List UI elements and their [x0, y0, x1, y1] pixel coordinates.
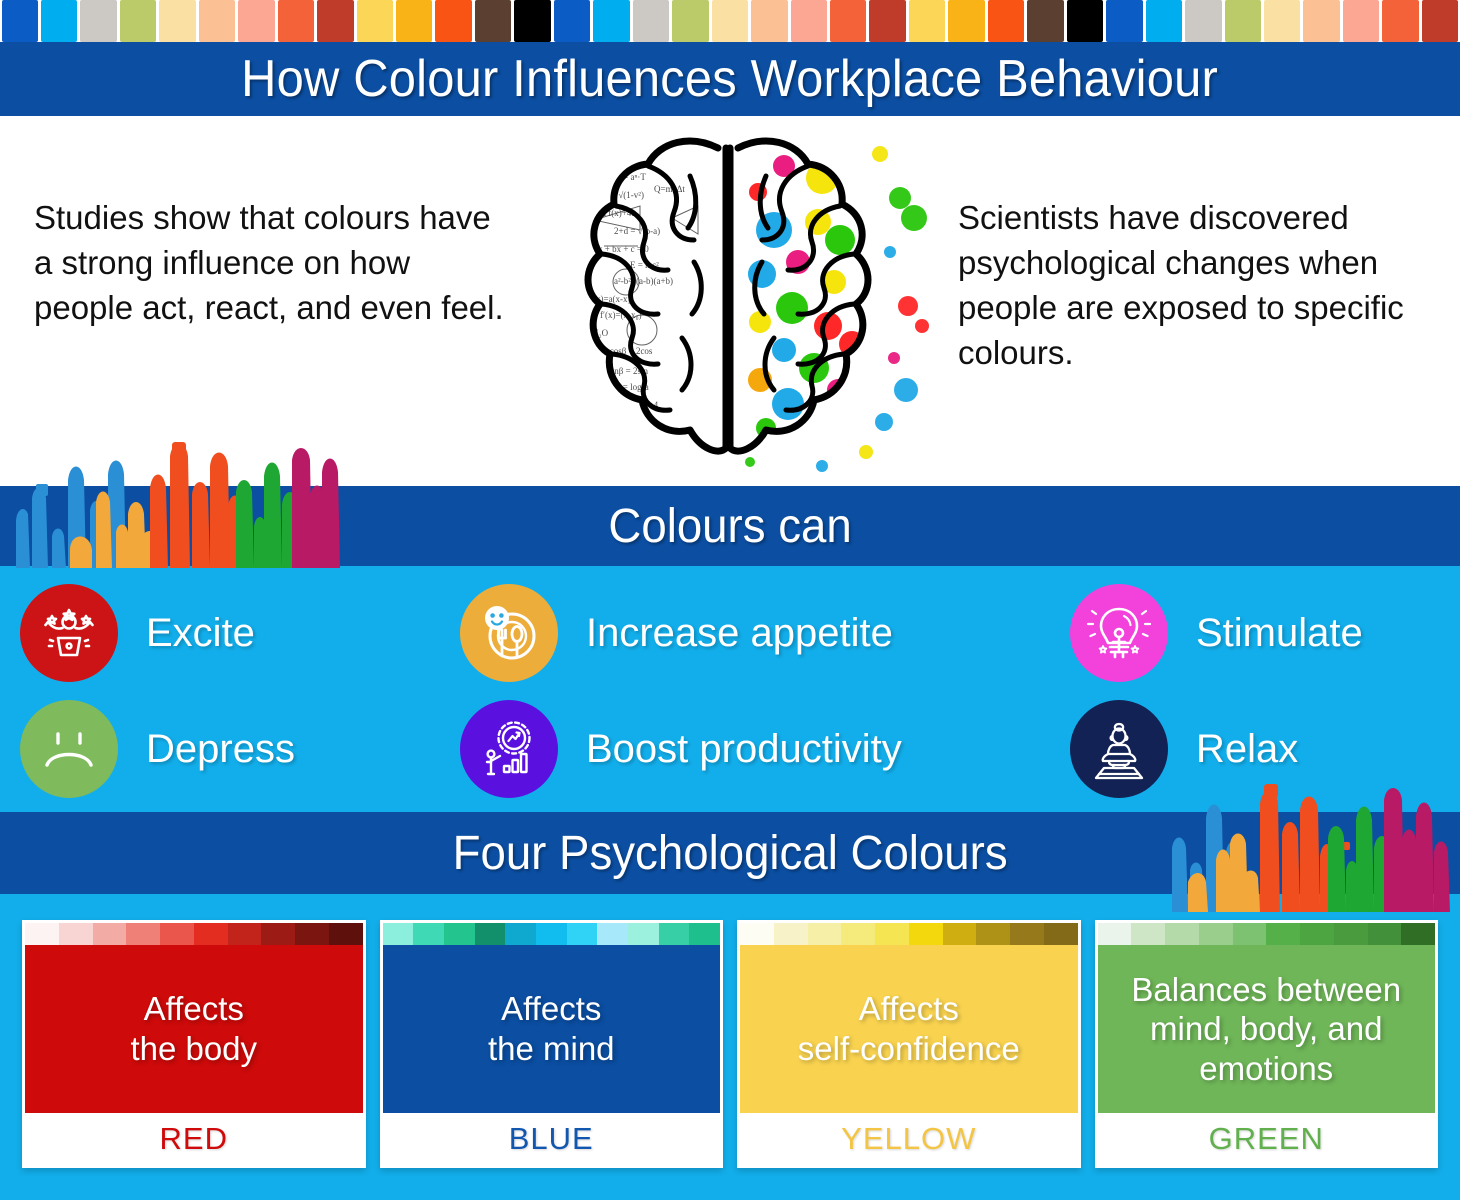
- card-swatch-10: [689, 923, 720, 945]
- swatch-9: [357, 0, 393, 42]
- card-swatch-4: [505, 923, 536, 945]
- card-footer: YELLOW: [740, 1113, 1078, 1165]
- four-colours-cards-section: Affects the bodyREDAffects the mindBLUEA…: [0, 894, 1460, 1200]
- card-swatch-9: [659, 923, 690, 945]
- colour-cards-row: Affects the bodyREDAffects the mindBLUEA…: [22, 920, 1438, 1168]
- top-colour-swatch-strip: [0, 0, 1460, 42]
- card-swatch-3: [841, 923, 875, 945]
- swatch-13: [514, 0, 550, 42]
- swatch-35: [1382, 0, 1418, 42]
- four-colours-heading: Four Psychological Colours: [452, 826, 1007, 881]
- swatch-29: [1146, 0, 1182, 42]
- card-swatch-3: [126, 923, 160, 945]
- colours-can-heading: Colours can: [608, 499, 851, 554]
- card-footer: BLUE: [383, 1113, 721, 1165]
- card-footer: GREEN: [1098, 1113, 1436, 1165]
- swatch-31: [1225, 0, 1261, 42]
- card-swatch-8: [1368, 923, 1402, 945]
- intro-text-right: Scientists have discovered psychological…: [958, 196, 1438, 376]
- card-body: Affects the mind: [383, 945, 721, 1113]
- swatch-20: [791, 0, 827, 42]
- card-swatch-1: [59, 923, 93, 945]
- card-description: Balances between mind, body, and emotion…: [1131, 970, 1401, 1089]
- colour-effect-label: Depress: [146, 727, 295, 772]
- swatch-36: [1422, 0, 1458, 42]
- card-swatch-6: [228, 923, 262, 945]
- card-swatch-2: [808, 923, 842, 945]
- card-swatch-0: [383, 923, 414, 945]
- swatch-17: [672, 0, 708, 42]
- swatch-0: [2, 0, 38, 42]
- card-description: Affects the mind: [488, 989, 615, 1068]
- swatch-11: [435, 0, 471, 42]
- swatch-6: [238, 0, 274, 42]
- card-swatch-7: [976, 923, 1010, 945]
- intro-text-left: Studies show that colours have a strong …: [34, 196, 514, 331]
- swatch-3: [120, 0, 156, 42]
- swatch-1: [41, 0, 77, 42]
- svg-text:Q=mcΔt: Q=mcΔt: [626, 432, 657, 442]
- colour-effect-item-excite[interactable]: Excite: [0, 578, 440, 688]
- card-swatch-8: [1010, 923, 1044, 945]
- colour-effect-item-increase-appetite[interactable]: Increase appetite: [440, 578, 1050, 688]
- card-swatch-5: [1266, 923, 1300, 945]
- gear-chart-person-icon: [460, 700, 558, 798]
- card-swatch-9: [1044, 923, 1078, 945]
- card-swatch-2: [93, 923, 127, 945]
- card-swatch-2: [1165, 923, 1199, 945]
- swatch-27: [1067, 0, 1103, 42]
- swatch-24: [948, 0, 984, 42]
- card-description: Affects the body: [130, 989, 257, 1068]
- swatch-22: [869, 0, 905, 42]
- colours-can-icon-grid: Excite: [0, 566, 1460, 812]
- card-swatch-0: [25, 923, 59, 945]
- page-title: How Colour Influences Workplace Behaviou…: [242, 49, 1219, 109]
- card-swatch-strip: [25, 923, 363, 945]
- card-swatch-6: [943, 923, 977, 945]
- card-swatch-5: [909, 923, 943, 945]
- card-colour-name: GREEN: [1209, 1121, 1324, 1157]
- card-swatch-5: [194, 923, 228, 945]
- card-swatch-3: [1199, 923, 1233, 945]
- card-body: Affects the body: [25, 945, 363, 1113]
- colour-effect-item-stimulate[interactable]: Stimulate: [1050, 578, 1460, 688]
- four-psychological-colours-banner: Four Psychological Colours: [0, 812, 1460, 894]
- split-brain-icon: ∫x²-c(½) f(a) = aⁿ·T F= mv/√(1-v²) Q=mcΔ…: [522, 122, 942, 484]
- svg-text:Q=mcΔt: Q=mcΔt: [654, 184, 685, 194]
- swatch-33: [1303, 0, 1339, 42]
- card-swatch-8: [628, 923, 659, 945]
- swatch-5: [199, 0, 235, 42]
- swatch-10: [396, 0, 432, 42]
- colour-card-yellow[interactable]: Affects self-confidenceYELLOW: [737, 920, 1081, 1168]
- swatch-23: [909, 0, 945, 42]
- card-swatch-4: [160, 923, 194, 945]
- meditating-person-icon: [1070, 700, 1168, 798]
- colours-can-banner: Colours can: [0, 486, 1460, 566]
- card-swatch-5: [536, 923, 567, 945]
- card-swatch-2: [444, 923, 475, 945]
- card-swatch-4: [875, 923, 909, 945]
- card-swatch-7: [1334, 923, 1368, 945]
- infographic-poster: How Colour Influences Workplace Behaviou…: [0, 0, 1460, 1200]
- swatch-4: [159, 0, 195, 42]
- swatch-26: [1027, 0, 1063, 42]
- card-footer: RED: [25, 1113, 363, 1165]
- card-swatch-strip: [740, 923, 1078, 945]
- colour-effect-label: Increase appetite: [586, 611, 893, 656]
- card-swatch-9: [329, 923, 363, 945]
- colour-card-red[interactable]: Affects the bodyRED: [22, 920, 366, 1168]
- swatch-8: [317, 0, 353, 42]
- colour-effect-label: Stimulate: [1196, 611, 1363, 656]
- card-swatch-8: [295, 923, 329, 945]
- card-swatch-0: [740, 923, 774, 945]
- colour-effect-item-boost-productivity[interactable]: Boost productivity: [440, 694, 1050, 804]
- card-colour-name: RED: [160, 1121, 228, 1157]
- card-swatch-7: [597, 923, 628, 945]
- card-swatch-3: [475, 923, 506, 945]
- card-swatch-1: [413, 923, 444, 945]
- card-swatch-9: [1401, 923, 1435, 945]
- svg-text:a²-b²=(a-b)(a+b): a²-b²=(a-b)(a+b): [614, 276, 673, 286]
- card-body: Balances between mind, body, and emotion…: [1098, 945, 1436, 1113]
- svg-text:∫erf(√π)dx: ∫erf(√π)dx: [591, 416, 629, 427]
- colour-effect-label: Relax: [1196, 727, 1298, 772]
- excited-person-stars-icon: [20, 584, 118, 682]
- swatch-21: [830, 0, 866, 42]
- colour-card-green[interactable]: Balances between mind, body, and emotion…: [1095, 920, 1439, 1168]
- swatch-18: [712, 0, 748, 42]
- swatch-19: [751, 0, 787, 42]
- swatch-7: [278, 0, 314, 42]
- card-description: Affects self-confidence: [798, 989, 1020, 1068]
- colour-effect-item-relax[interactable]: Relax: [1050, 694, 1460, 804]
- card-swatch-6: [1300, 923, 1334, 945]
- swatch-30: [1185, 0, 1221, 42]
- swatch-2: [80, 0, 116, 42]
- colour-effect-label: Boost productivity: [586, 727, 902, 772]
- colour-card-blue[interactable]: Affects the mindBLUE: [380, 920, 724, 1168]
- card-swatch-7: [261, 923, 295, 945]
- swatch-32: [1264, 0, 1300, 42]
- swatch-34: [1343, 0, 1379, 42]
- swatch-16: [633, 0, 669, 42]
- card-swatch-0: [1098, 923, 1132, 945]
- title-banner: How Colour Influences Workplace Behaviou…: [0, 42, 1460, 116]
- card-swatch-4: [1233, 923, 1267, 945]
- swatch-25: [988, 0, 1024, 42]
- lightbulb-person-icon: [1070, 584, 1168, 682]
- card-swatch-6: [567, 923, 598, 945]
- svg-text:∫x²-c(½): ∫x²-c(½): [595, 154, 625, 165]
- colour-effect-item-depress[interactable]: Depress: [0, 694, 440, 804]
- card-colour-name: YELLOW: [841, 1121, 976, 1157]
- card-swatch-strip: [1098, 923, 1436, 945]
- plate-fork-spoon-smiley-icon: [460, 584, 558, 682]
- card-body: Affects self-confidence: [740, 945, 1078, 1113]
- swatch-14: [554, 0, 590, 42]
- colour-effect-label: Excite: [146, 611, 255, 656]
- sad-face-icon: [20, 700, 118, 798]
- card-swatch-1: [1131, 923, 1165, 945]
- swatch-12: [475, 0, 511, 42]
- card-swatch-1: [774, 923, 808, 945]
- card-colour-name: BLUE: [509, 1121, 594, 1157]
- card-swatch-strip: [383, 923, 721, 945]
- svg-text:2+d = √(p-a): 2+d = √(p-a): [614, 226, 660, 236]
- swatch-15: [593, 0, 629, 42]
- swatch-28: [1106, 0, 1142, 42]
